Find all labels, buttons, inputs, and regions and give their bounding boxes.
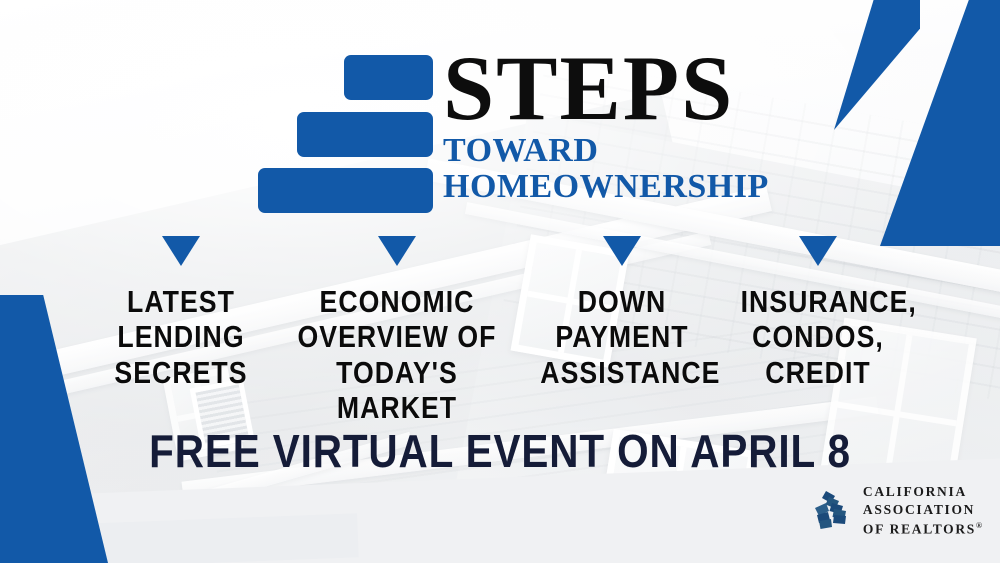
car-logo-text: CALIFORNIA ASSOCIATION OF REALTORS® bbox=[863, 483, 982, 539]
car-logo-line-2: ASSOCIATION bbox=[863, 501, 982, 520]
stairs-icon-bar-middle bbox=[297, 112, 433, 157]
down-triangle-icon bbox=[378, 236, 416, 266]
stairs-icon bbox=[258, 46, 433, 196]
down-triangle-icon bbox=[603, 236, 641, 266]
benefit-columns: LATEST LENDING SECRETS ECONOMIC OVERVIEW… bbox=[96, 236, 908, 425]
event-headline: FREE VIRTUAL EVENT ON APRIL 8 bbox=[60, 424, 940, 478]
benefit-column-down-payment-assistance: DOWN PAYMENT ASSISTANCE bbox=[527, 236, 717, 390]
benefit-column-label: ECONOMIC OVERVIEW OF TODAY'S MARKET bbox=[293, 284, 499, 425]
car-logo-line-3: OF REALTORS® bbox=[863, 520, 982, 539]
steps-logo: STEPS TOWARD HOMEOWNERSHIP bbox=[258, 46, 758, 206]
benefit-column-insurance-condos-credit: INSURANCE, CONDOS, CREDIT bbox=[728, 236, 908, 390]
down-triangle-icon bbox=[162, 236, 200, 266]
benefit-column-latest-lending-secrets: LATEST LENDING SECRETS bbox=[96, 236, 266, 390]
down-triangle-icon bbox=[799, 236, 837, 266]
benefit-column-label: DOWN PAYMENT ASSISTANCE bbox=[541, 284, 704, 390]
car-logo-line-3-text: OF REALTORS bbox=[863, 521, 976, 536]
steps-logo-subtitle-line2: HOMEOWNERSHIP bbox=[443, 169, 769, 205]
steps-logo-subtitle: TOWARD HOMEOWNERSHIP bbox=[443, 133, 769, 205]
car-hand-house-icon bbox=[804, 486, 854, 536]
car-logo: CALIFORNIA ASSOCIATION OF REALTORS® bbox=[804, 483, 982, 539]
steps-logo-title: STEPS bbox=[443, 46, 769, 131]
benefit-column-label: LATEST LENDING SECRETS bbox=[108, 284, 254, 390]
registered-trademark-mark: ® bbox=[976, 521, 982, 530]
promo-graphic: STEPS TOWARD HOMEOWNERSHIP LATEST LENDIN… bbox=[0, 0, 1000, 563]
car-logo-line-1: CALIFORNIA bbox=[863, 483, 982, 502]
benefit-column-label: INSURANCE, CONDOS, CREDIT bbox=[741, 284, 896, 390]
benefit-column-economic-overview: ECONOMIC OVERVIEW OF TODAY'S MARKET bbox=[277, 236, 517, 425]
stairs-icon-bar-bottom bbox=[258, 168, 433, 213]
steps-logo-wordmark: STEPS TOWARD HOMEOWNERSHIP bbox=[443, 46, 769, 205]
stairs-icon-bar-top bbox=[344, 55, 433, 100]
